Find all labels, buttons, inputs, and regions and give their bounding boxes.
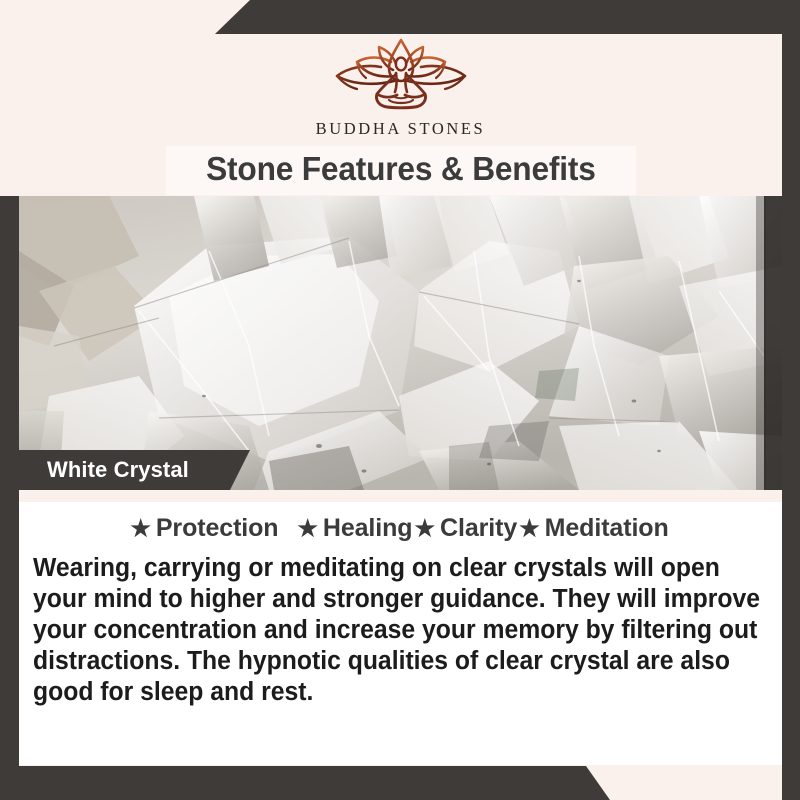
title-banner: Stone Features & Benefits xyxy=(167,147,635,194)
benefit-item-healing: ★Healing xyxy=(297,514,414,542)
infographic-page: BUDDHA STONES Stone Features & Benefits xyxy=(0,0,800,800)
star-icon: ★ xyxy=(519,515,540,541)
benefit-label-clarity: Clarity xyxy=(440,514,517,542)
top-decorative-band xyxy=(0,0,800,34)
white-crystal-photo xyxy=(19,196,782,490)
left-decorative-edge xyxy=(0,196,19,800)
benefit-label-protection: Protection xyxy=(156,514,279,542)
page-title: Stone Features & Benefits xyxy=(206,152,596,187)
benefits-row: ★Protection ★Healing★Clarity★Meditation xyxy=(33,514,768,543)
benefit-label-meditation: Meditation xyxy=(545,514,669,542)
star-icon: ★ xyxy=(297,515,318,541)
photo-content-divider xyxy=(19,490,782,502)
description-text: Wearing, carrying or meditating on clear… xyxy=(33,553,767,709)
bottom-decorative-band xyxy=(0,766,800,800)
benefit-item-clarity: ★Clarity xyxy=(414,514,519,542)
lotus-meditation-icon xyxy=(303,36,499,121)
star-icon: ★ xyxy=(414,515,435,541)
content-panel: ★Protection ★Healing★Clarity★Meditation … xyxy=(19,502,782,765)
header: BUDDHA STONES Stone Features & Benefits xyxy=(19,34,782,196)
right-decorative-edge xyxy=(782,0,800,800)
star-icon: ★ xyxy=(130,515,151,541)
stone-name-text: White Crystal xyxy=(19,457,189,483)
benefit-item-protection: ★Protection xyxy=(130,514,280,542)
brand-logo xyxy=(301,38,501,118)
benefit-item-meditation: ★Meditation xyxy=(519,514,671,542)
brand-name: BUDDHA STONES xyxy=(316,119,486,139)
benefit-label-healing: Healing xyxy=(323,514,413,542)
stone-name-label: White Crystal xyxy=(19,450,250,490)
